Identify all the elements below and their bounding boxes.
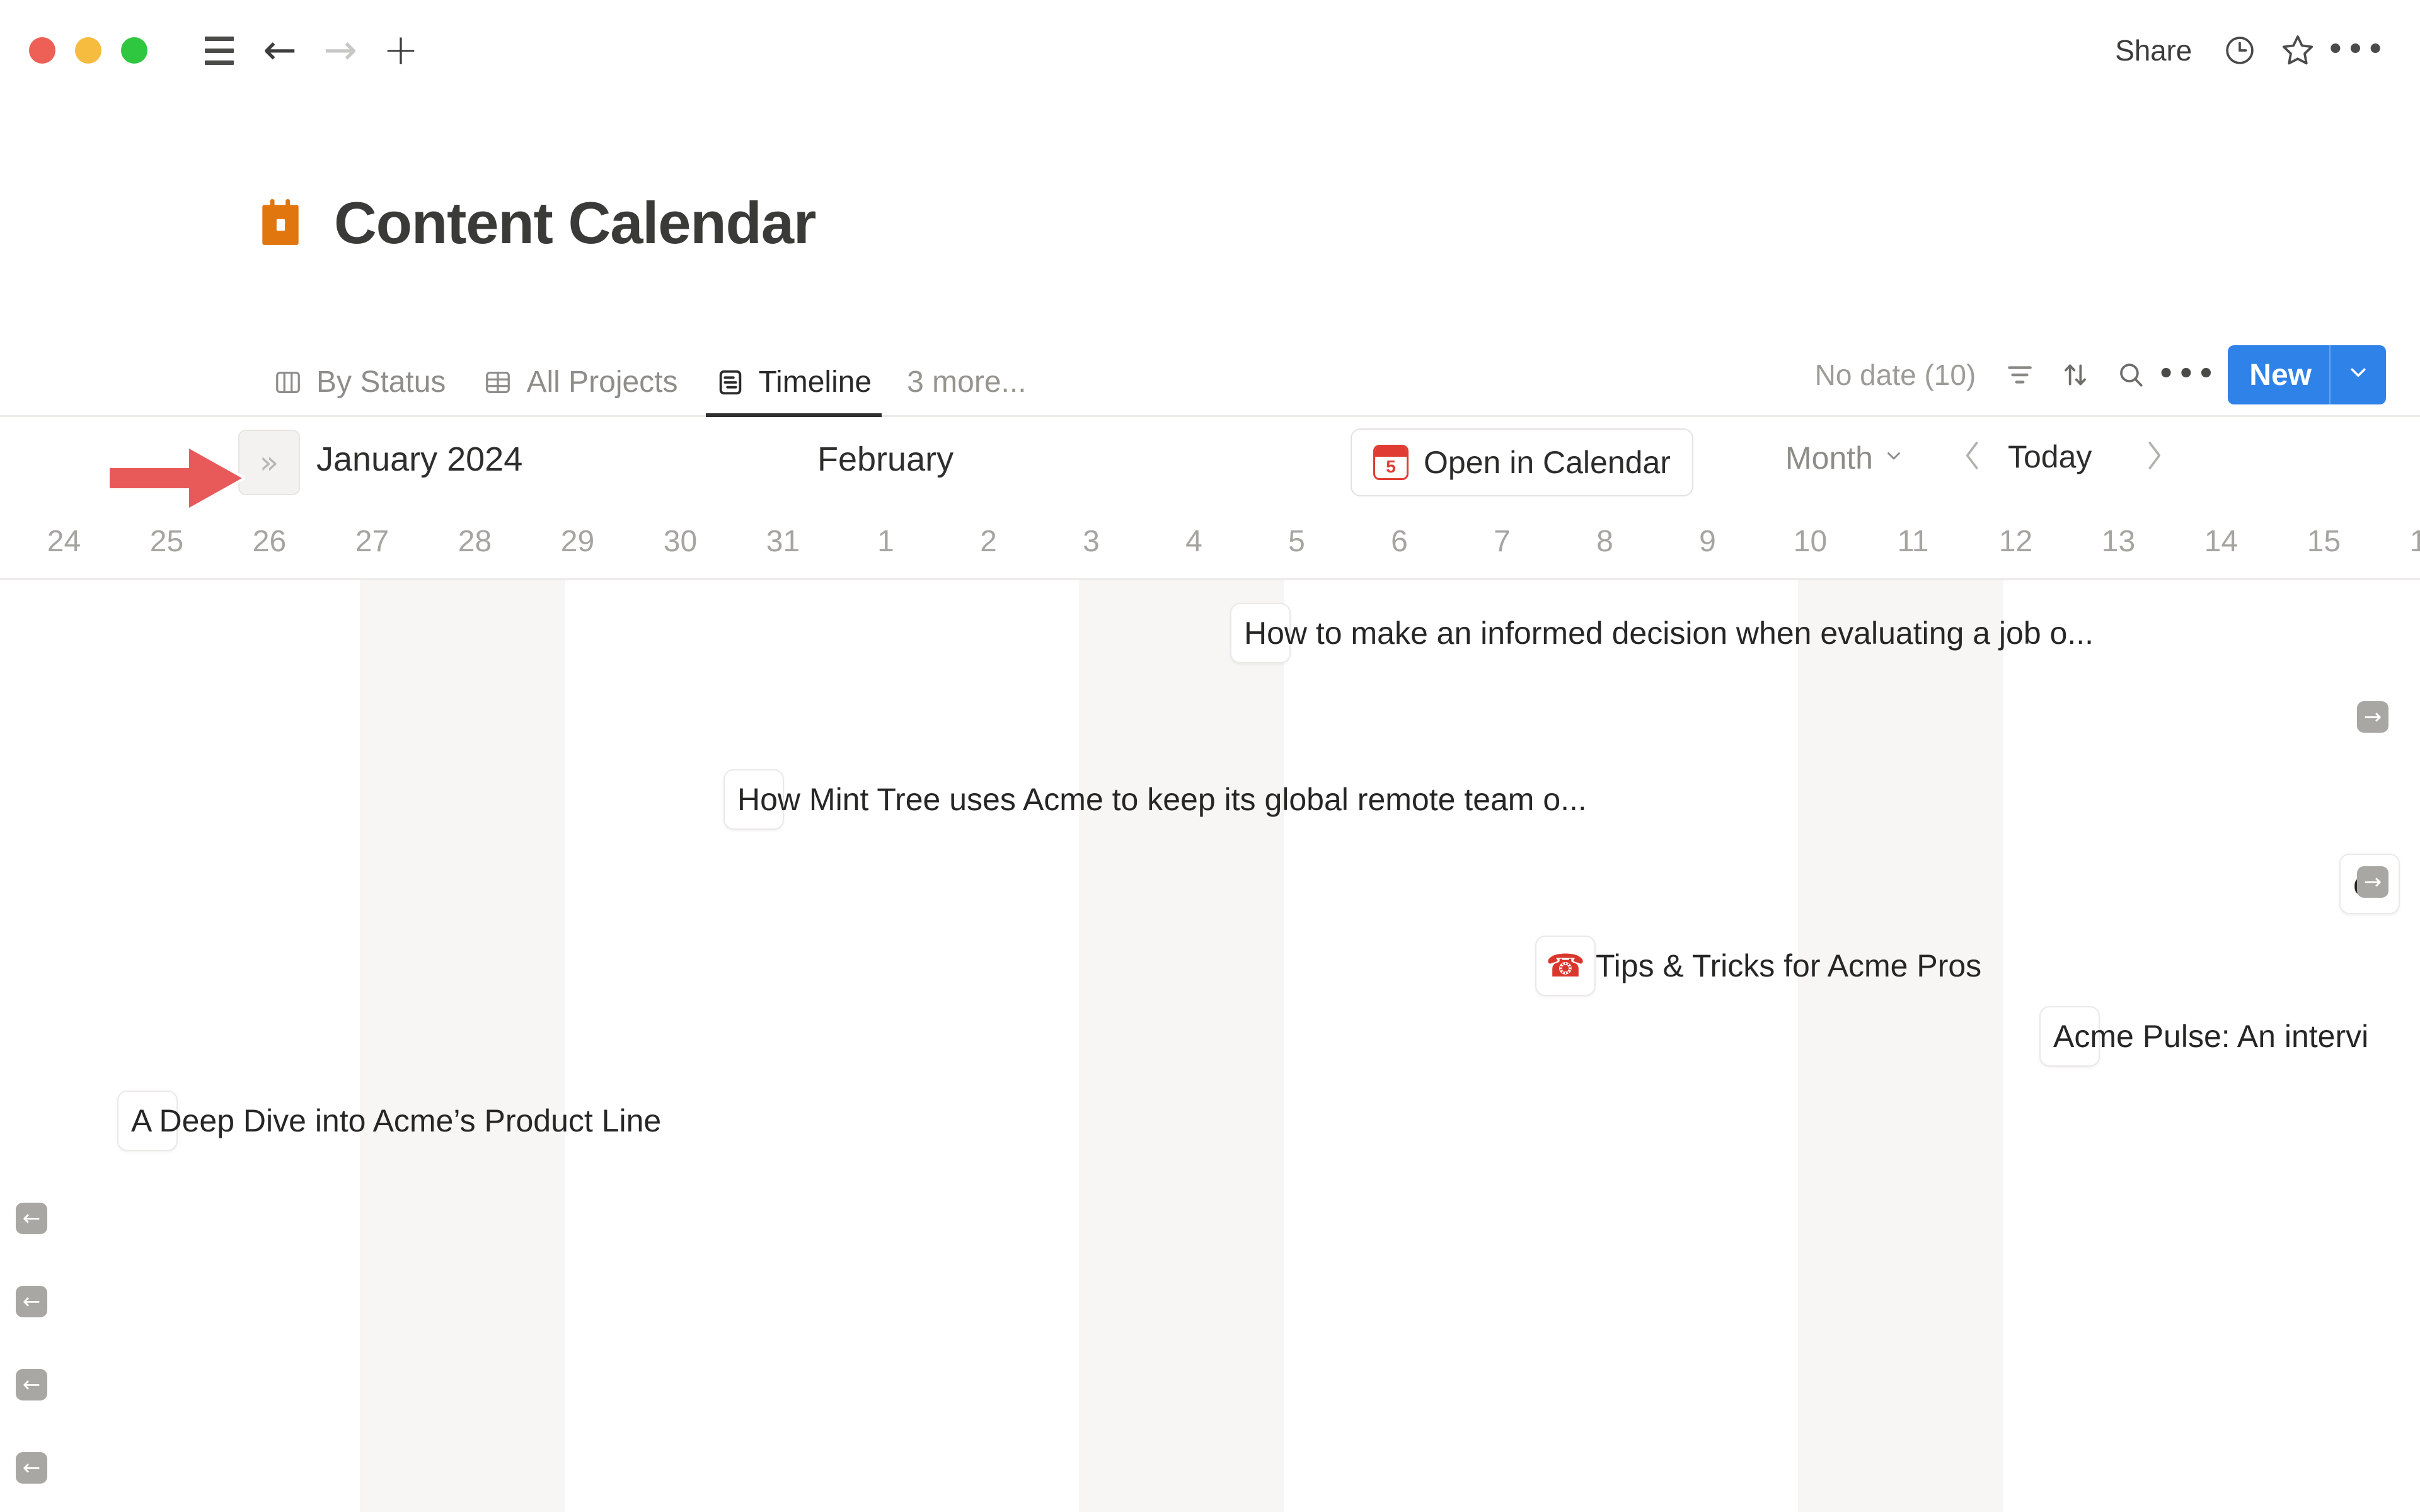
close-window-button[interactable]	[29, 37, 55, 64]
open-in-calendar-label: Open in Calendar	[1424, 444, 1671, 481]
arrow-left-icon: ←	[23, 1374, 41, 1395]
weekend-column	[360, 580, 565, 1512]
annotation-red-arrow	[106, 441, 247, 515]
app-window: ← → + Share •••	[0, 0, 2420, 1512]
minimize-window-button[interactable]	[75, 37, 101, 64]
timeline-event-card[interactable]: ☎Tips & Tricks for Acme Pros	[1535, 936, 1596, 996]
offscreen-left-indicator[interactable]: ←	[16, 1452, 47, 1484]
forward-button[interactable]: →	[310, 20, 371, 81]
event-chip[interactable]: ☎	[1535, 936, 1596, 996]
spiral-calendar-icon	[255, 197, 306, 249]
calendar-app-icon: 5	[1373, 445, 1409, 480]
today-button[interactable]: Today	[2008, 438, 2092, 475]
search-button[interactable]	[2103, 347, 2158, 403]
open-in-calendar-button[interactable]: 5 Open in Calendar	[1351, 428, 1693, 496]
timeline-icon	[716, 368, 745, 397]
arrow-left-icon: ←	[23, 1208, 41, 1229]
date-cell[interactable]: 12	[1964, 504, 2067, 578]
zoom-level-label: Month	[1785, 440, 1873, 476]
next-period-button[interactable]	[2141, 438, 2167, 480]
tab-by-status[interactable]: By Status	[255, 365, 464, 417]
event-emoji-icon: ☎	[1546, 950, 1585, 982]
search-icon	[2115, 359, 2146, 391]
star-icon	[2280, 33, 2315, 68]
arrow-right-icon: →	[2364, 871, 2382, 893]
offscreen-right-indicator[interactable]: →	[2357, 866, 2388, 898]
maximize-window-button[interactable]	[121, 37, 147, 64]
plus-icon: +	[383, 29, 419, 72]
back-button[interactable]: ←	[250, 20, 310, 81]
previous-period-button[interactable]	[1960, 438, 1985, 480]
arrow-right-icon: →	[2364, 706, 2382, 728]
timeline-event-card[interactable]: How to make an informed decision when ev…	[1230, 603, 1291, 663]
date-cell[interactable]: 7	[1451, 504, 1553, 578]
new-button[interactable]: New	[2228, 345, 2386, 404]
offscreen-left-indicator[interactable]: ←	[16, 1286, 47, 1317]
date-cell[interactable]: 6	[1348, 504, 1451, 578]
view-tabs: By Status All Projects Timeline 3 more..…	[255, 365, 1043, 417]
event-title: Acme Pulse: An intervi	[2053, 1006, 2368, 1067]
filter-icon	[2004, 359, 2036, 391]
page-header: Content Calendar	[255, 189, 815, 257]
tab-more-button[interactable]: 3 more...	[890, 365, 1042, 417]
date-cell[interactable]: 3	[1040, 504, 1143, 578]
date-cell[interactable]: 14	[2170, 504, 2273, 578]
history-button[interactable]	[2211, 21, 2269, 79]
clock-icon	[2223, 34, 2256, 67]
tab-by-status-label: By Status	[316, 365, 446, 399]
arrow-left-icon: ←	[23, 1291, 41, 1312]
date-cell[interactable]: 27	[321, 504, 423, 578]
view-tab-bar: By Status All Projects Timeline 3 more..…	[0, 328, 2420, 417]
timeline-event-card[interactable]: How Mint Tree uses Acme to keep its glob…	[723, 769, 784, 830]
date-cell[interactable]: 29	[526, 504, 629, 578]
board-icon	[274, 368, 302, 397]
page-title: Content Calendar	[334, 189, 815, 257]
offscreen-right-indicator[interactable]: →	[2357, 701, 2388, 733]
no-date-count[interactable]: No date (10)	[1815, 358, 1976, 392]
table-icon	[483, 368, 512, 397]
date-header-strip: 242526272829303112345678910111213141516	[0, 504, 2420, 578]
collapse-chevron-button[interactable]: »	[238, 430, 300, 495]
date-cell[interactable]: 31	[732, 504, 834, 578]
offscreen-left-indicator[interactable]: ←	[16, 1369, 47, 1400]
date-cell[interactable]: 8	[1553, 504, 1656, 578]
weekend-column	[1079, 580, 1284, 1512]
title-bar-actions: Share •••	[2096, 0, 2385, 101]
date-cell[interactable]: 5	[1245, 504, 1348, 578]
sort-icon	[2060, 359, 2091, 391]
title-bar: ← → + Share •••	[0, 0, 2420, 101]
timeline-event-card[interactable]: Acme Pulse: An intervi	[2039, 1006, 2100, 1067]
hamburger-icon	[205, 37, 234, 65]
date-cell[interactable]: 24	[13, 504, 115, 578]
date-cell[interactable]: 1	[834, 504, 937, 578]
month-label-secondary: February	[817, 440, 954, 479]
month-label-primary: January 2024	[316, 440, 522, 479]
forward-arrow-icon: →	[323, 30, 357, 71]
zoom-level-selector[interactable]: Month	[1785, 440, 1904, 476]
date-cell[interactable]: 15	[2273, 504, 2375, 578]
date-cell[interactable]: 4	[1143, 504, 1245, 578]
window-controls	[29, 37, 147, 64]
sidebar-toggle-button[interactable]	[189, 20, 250, 81]
timeline-event-card[interactable]: A Deep Dive into Acme’s Product Line	[117, 1091, 178, 1151]
event-title: Tips & Tricks for Acme Pros	[1596, 936, 1981, 996]
filter-button[interactable]	[1992, 347, 2048, 403]
date-cell[interactable]: 30	[629, 504, 732, 578]
offscreen-left-indicator[interactable]: ←	[16, 1203, 47, 1234]
view-more-button[interactable]: •••	[2158, 347, 2214, 403]
chevron-down-icon[interactable]	[2331, 361, 2386, 389]
date-cell[interactable]: 13	[2067, 504, 2170, 578]
share-button[interactable]: Share	[2096, 33, 2211, 67]
favorite-button[interactable]	[2269, 21, 2327, 79]
tab-timeline[interactable]: Timeline	[697, 365, 891, 417]
chevron-down-icon	[1883, 445, 1904, 471]
event-title: How to make an informed decision when ev…	[1244, 603, 2094, 663]
sort-button[interactable]	[2048, 347, 2103, 403]
timeline-control-bar: » January 2024 February 5 Open in Calend…	[0, 421, 2420, 504]
date-cell[interactable]: 28	[423, 504, 526, 578]
window-more-button[interactable]: •••	[2327, 21, 2385, 79]
event-title: A Deep Dive into Acme’s Product Line	[131, 1091, 661, 1151]
arrow-left-icon: ←	[23, 1457, 41, 1479]
tab-all-projects-label: All Projects	[526, 365, 677, 399]
date-cell[interactable]: 2	[937, 504, 1040, 578]
view-toolbar: No date (10) ••• New	[1815, 345, 2386, 404]
date-cell[interactable]: 16	[2375, 504, 2420, 578]
more-dots-icon: •••	[2326, 40, 2386, 60]
tab-all-projects[interactable]: All Projects	[464, 365, 696, 417]
back-arrow-icon: ←	[263, 30, 297, 71]
event-title: How Mint Tree uses Acme to keep its glob…	[737, 769, 1587, 830]
date-cell[interactable]: 10	[1759, 504, 1862, 578]
weekend-column	[1798, 580, 2003, 1512]
new-tab-button[interactable]: +	[371, 20, 431, 81]
date-cell[interactable]: 9	[1656, 504, 1759, 578]
more-dots-icon: •••	[2157, 365, 2216, 384]
nav-icon-group: ← → +	[189, 20, 431, 81]
timeline-grid[interactable]: How to make an informed decision when ev…	[0, 578, 2420, 1512]
date-cell[interactable]: 11	[1862, 504, 1964, 578]
tab-timeline-label: Timeline	[759, 365, 872, 399]
new-button-label: New	[2228, 358, 2329, 392]
